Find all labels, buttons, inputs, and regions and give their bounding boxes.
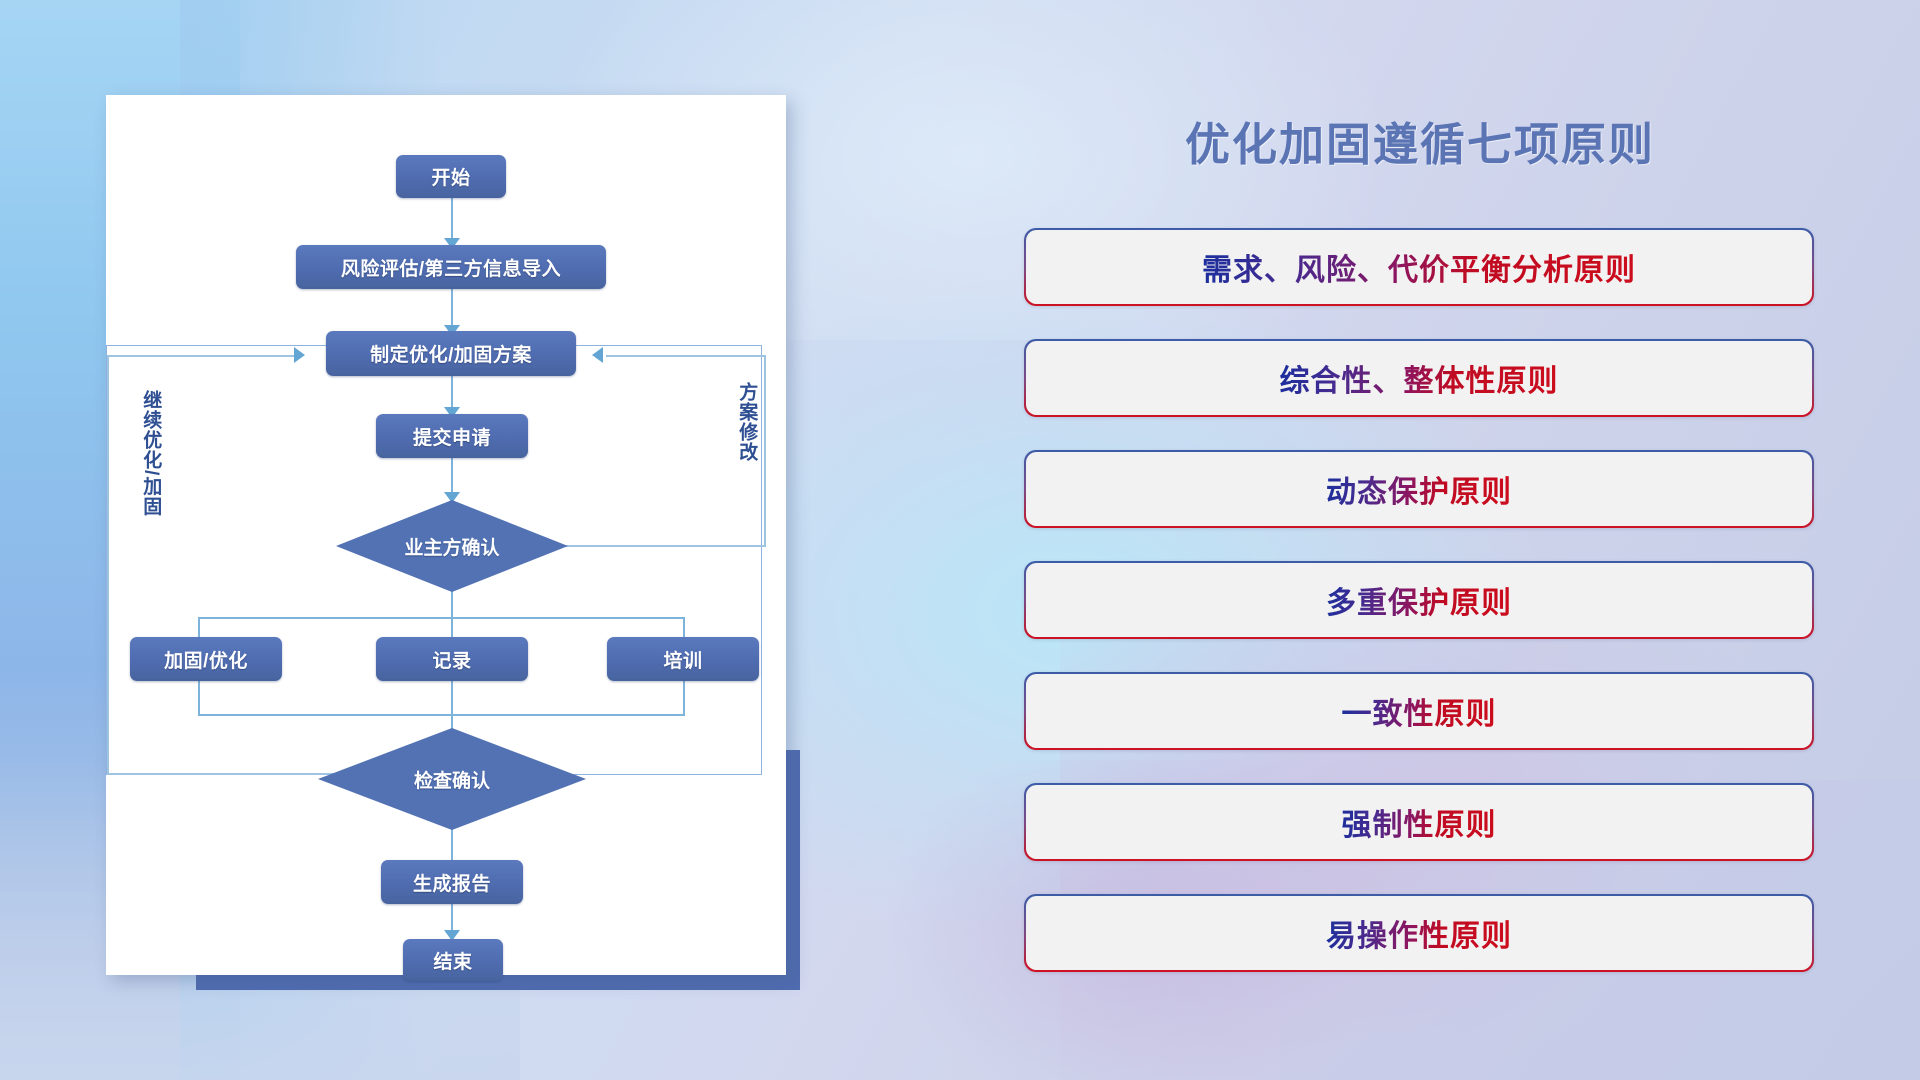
flow-node-training[interactable]: 培训 (607, 637, 759, 681)
connector-start-to-risk (451, 196, 453, 244)
edge-label-plan-revision: 方案修改 (736, 382, 757, 502)
flow-node-submit-application[interactable]: 提交申请 (376, 414, 528, 458)
principles-list: 需求、风险、代价平衡分析原则 综合性、整体性原则 动态保护原则 多重保护原则 一… (1024, 228, 1814, 1005)
connector-check-to-left (107, 773, 337, 775)
arrow-right-into-plan (592, 347, 603, 363)
connector-merge-bus (198, 714, 684, 716)
principle-item-4[interactable]: 多重保护原则 (1024, 561, 1814, 639)
arrow-left-into-plan (294, 347, 305, 363)
principle-item-7-inner: 易操作性原则 (1026, 896, 1813, 971)
principle-item-7-label: 易操作性原则 (1326, 911, 1512, 955)
principle-item-6-inner: 强制性原则 (1026, 785, 1813, 860)
principle-item-1-inner: 需求、风险、代价平衡分析原则 (1026, 230, 1813, 305)
principle-item-6-label: 强制性原则 (1342, 800, 1497, 844)
principle-item-7[interactable]: 易操作性原则 (1024, 894, 1814, 972)
principle-item-2-label: 综合性、整体性原则 (1280, 356, 1559, 400)
principle-item-3-label: 动态保护原则 (1326, 467, 1512, 511)
flow-node-record[interactable]: 记录 (376, 637, 528, 681)
connector-train-down (683, 680, 685, 716)
flow-node-owner-confirm-label: 业主方确认 (404, 533, 499, 560)
principle-item-3[interactable]: 动态保护原则 (1024, 450, 1814, 528)
principle-item-5-inner: 一致性原则 (1026, 674, 1813, 749)
principle-item-2[interactable]: 综合性、整体性原则 (1024, 339, 1814, 417)
principle-item-2-inner: 综合性、整体性原则 (1026, 341, 1813, 416)
principle-item-6[interactable]: 强制性原则 (1024, 783, 1814, 861)
edge-label-continue-optimize: 继续优化/加固 (140, 390, 161, 540)
flow-node-end[interactable]: 结束 (403, 939, 503, 981)
flow-node-generate-report[interactable]: 生成报告 (381, 860, 523, 904)
flow-node-reinforce-optimize[interactable]: 加固/优化 (130, 637, 282, 681)
principle-item-4-label: 多重保护原则 (1326, 578, 1512, 622)
flow-node-owner-confirm[interactable]: 业主方确认 (336, 500, 568, 592)
flow-node-check-confirm-label: 检查确认 (414, 766, 490, 793)
flow-node-make-plan[interactable]: 制定优化/加固方案 (326, 331, 576, 376)
principle-item-1-label: 需求、风险、代价平衡分析原则 (1202, 245, 1636, 289)
flow-node-start[interactable]: 开始 (396, 155, 506, 198)
connector-branch-bus (198, 617, 684, 619)
principle-item-3-inner: 动态保护原则 (1026, 452, 1813, 527)
flow-node-check-confirm[interactable]: 检查确认 (318, 728, 586, 830)
principle-item-4-inner: 多重保护原则 (1026, 563, 1813, 638)
connector-owner-to-right (566, 545, 766, 547)
connector-right-riser (764, 355, 766, 547)
connector-reinforce-down (198, 680, 200, 716)
connector-owner-down (451, 591, 453, 619)
principle-item-5-label: 一致性原则 (1342, 689, 1497, 733)
principle-item-1[interactable]: 需求、风险、代价平衡分析原则 (1024, 228, 1814, 306)
connector-left-riser (107, 355, 109, 775)
connector-left-to-plan (107, 355, 297, 357)
connector-right-to-plan (606, 355, 766, 357)
principle-item-5[interactable]: 一致性原则 (1024, 672, 1814, 750)
flow-node-risk-assessment[interactable]: 风险评估/第三方信息导入 (296, 245, 606, 289)
page-title: 优化加固遵循七项原则 (1040, 108, 1800, 173)
